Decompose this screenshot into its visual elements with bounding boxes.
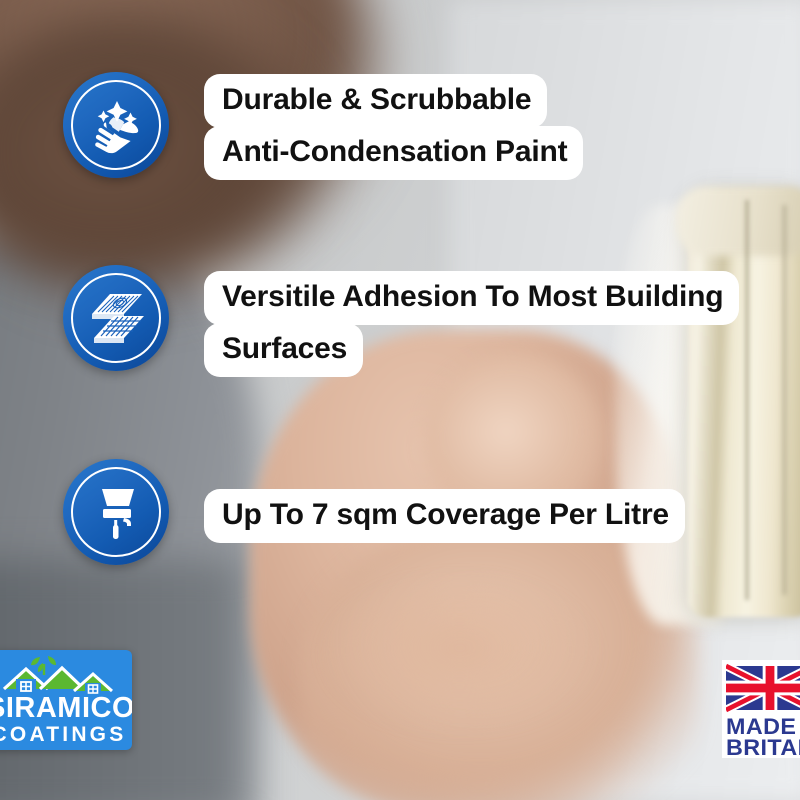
- background-brush-edge-2: [782, 205, 787, 595]
- feature-badge-2: [63, 265, 169, 371]
- logo-name: SIRAMICO: [0, 694, 132, 723]
- wood-and-tile-surfaces-icon: [84, 286, 148, 350]
- feature-text-3-line-1: Up To 7 sqm Coverage Per Litre: [204, 489, 685, 543]
- siramico-logo[interactable]: SIRAMICO COATINGS: [0, 650, 132, 750]
- background-knuckle: [330, 585, 590, 725]
- made-in-britain-line-2: BRITAIN: [726, 737, 800, 758]
- feature-text-1-line-2: Anti-Condensation Paint: [204, 126, 583, 180]
- made-in-britain-badge: MADE IN BRITAIN: [722, 660, 800, 758]
- feature-badge-1: [63, 72, 169, 178]
- hand-washing-sparkle-icon: [84, 93, 148, 157]
- paint-roller-icon: [84, 480, 148, 544]
- promo-image: Durable & Scrubbable Anti-Condensation P…: [0, 0, 800, 800]
- feature-text-1-line-1: Durable & Scrubbable: [204, 74, 547, 128]
- feature-text-2-line-1: Versitile Adhesion To Most Building: [204, 271, 739, 325]
- houses-with-leaves-icon: [0, 655, 120, 695]
- feature-badge-3: [63, 459, 169, 565]
- union-jack-flag-icon: [726, 663, 800, 713]
- logo-subtitle: COATINGS: [0, 724, 132, 745]
- background-brush-edge-1: [745, 200, 749, 600]
- feature-text-2-line-2: Surfaces: [204, 323, 363, 377]
